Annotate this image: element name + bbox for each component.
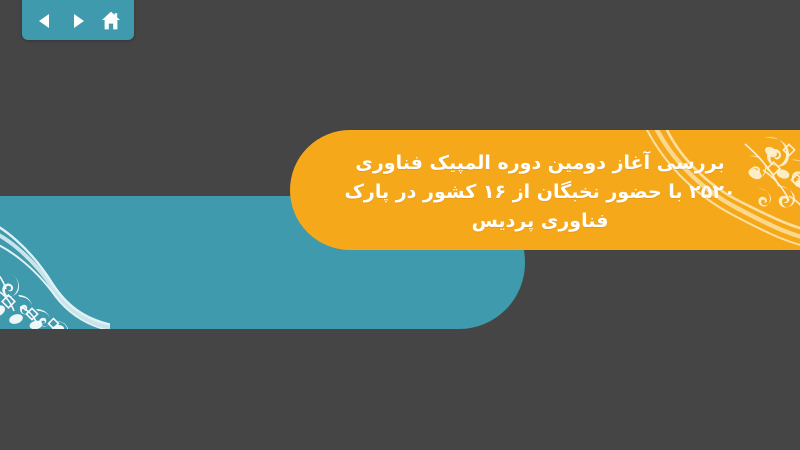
forward-button[interactable] [65,8,91,34]
back-button[interactable] [32,8,58,34]
triangle-right-icon [68,11,88,31]
triangle-left-icon [35,11,55,31]
headline-line-3: فناوری پردیس [472,207,609,236]
headline-line-2: ۲۵۲۰ با حضور نخبگان از ۱۶ کشور در پارک [344,178,735,207]
home-button[interactable] [98,8,124,34]
teal-arabesque-ornament [0,196,110,329]
slide-canvas: بررسی آغاز دومین دوره المپیک فناوری ۲۵۲۰… [0,0,800,450]
headline-text: بررسی آغاز دومین دوره المپیک فناوری ۲۵۲۰… [300,130,780,250]
navigation-bar [22,0,134,40]
headline-line-1: بررسی آغاز دومین دوره المپیک فناوری [355,149,724,178]
home-icon [100,10,122,32]
